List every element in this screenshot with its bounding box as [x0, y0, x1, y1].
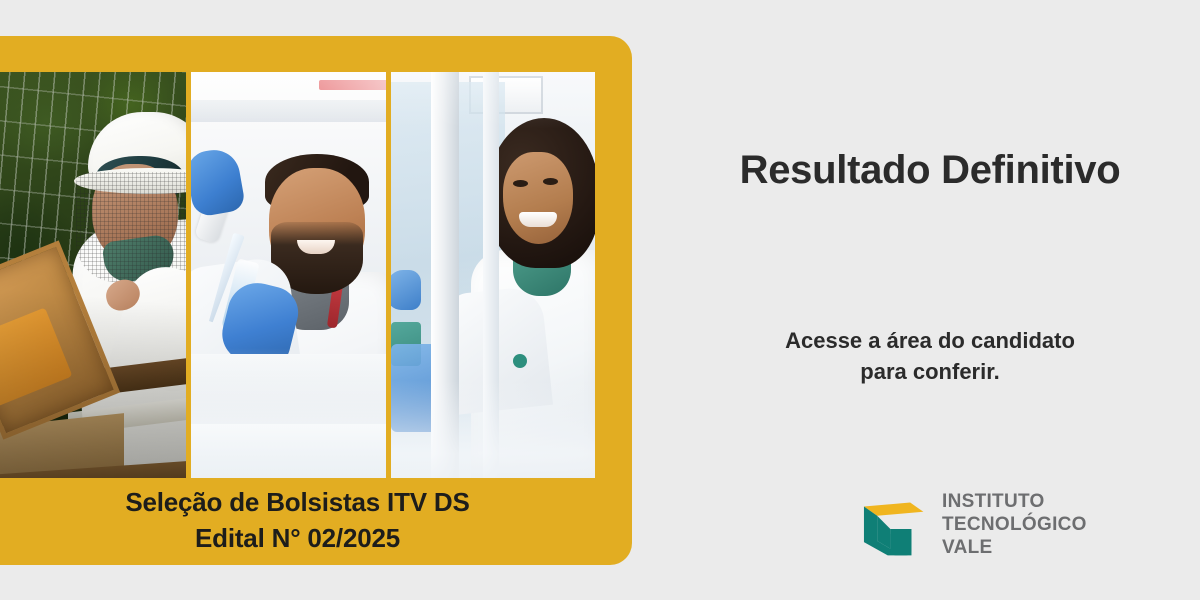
photo-smiling-lab-researcher: [391, 72, 595, 478]
photo-scientist-with-pipette: [191, 72, 386, 478]
itv-logo-text: INSTITUTO TECNOLÓGICO VALE: [942, 490, 1087, 559]
itv-logo: INSTITUTO TECNOLÓGICO VALE: [860, 490, 1087, 559]
logo-line-1: INSTITUTO: [942, 490, 1087, 513]
instruction-line-1: Acesse a área do candidato: [660, 325, 1200, 356]
right-pane: Resultado Definitivo Acesse a área do ca…: [660, 0, 1200, 600]
logo-line-3: VALE: [942, 536, 1087, 559]
photo-apiarist-inspecting-beehive: [0, 72, 186, 478]
card-caption-line-2: Edital N° 02/2025: [0, 520, 595, 556]
card-caption: Seleção de Bolsistas ITV DS Edital N° 02…: [0, 484, 595, 556]
card-caption-line-1: Seleção de Bolsistas ITV DS: [0, 484, 595, 520]
logo-line-2: TECNOLÓGICO: [942, 513, 1087, 536]
instruction-text: Acesse a área do candidato para conferir…: [660, 325, 1200, 387]
instruction-line-2: para conferir.: [660, 356, 1200, 387]
photo-strip: [0, 72, 595, 478]
itv-logo-mark-icon: [860, 492, 926, 558]
page-title: Resultado Definitivo: [660, 148, 1200, 193]
announcement-banner: Seleção de Bolsistas ITV DS Edital N° 02…: [0, 0, 1200, 600]
